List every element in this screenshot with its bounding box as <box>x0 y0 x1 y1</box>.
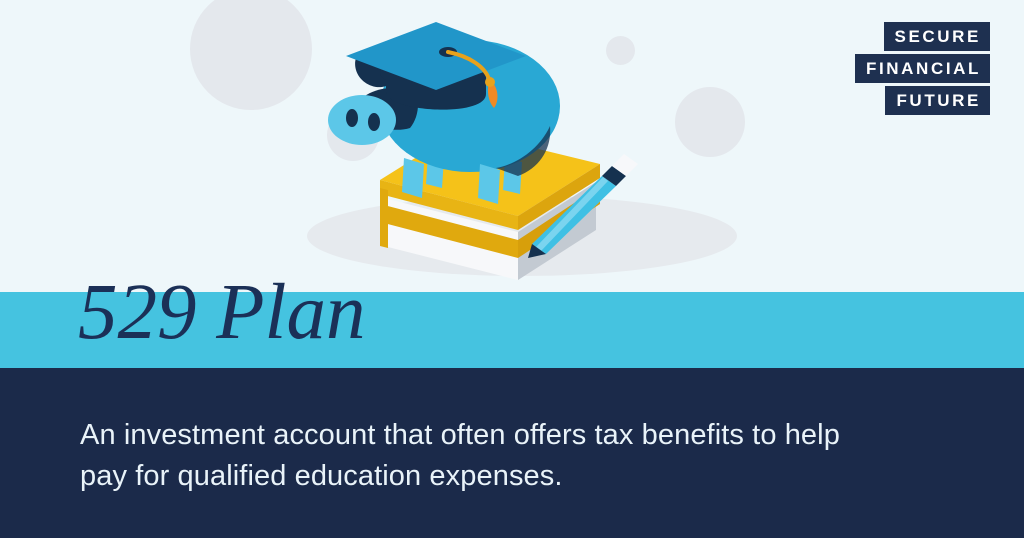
book-spine-icon <box>380 188 388 248</box>
piggy-front-leg-icon <box>402 158 424 198</box>
piggy-hind-leg-front-icon <box>478 164 500 204</box>
piggy-snout-icon <box>328 95 396 145</box>
poster-canvas: SECURE FINANCIAL FUTURE 529 Plan An inve… <box>0 0 1024 538</box>
logo-line-secure: SECURE <box>884 22 990 51</box>
piggy-nostril-left-icon <box>346 109 358 127</box>
page-title: 529 Plan <box>78 272 365 355</box>
tassel-knot-icon <box>485 77 495 87</box>
logo-line-financial: FINANCIAL <box>855 54 990 83</box>
piggy-bank-illustration <box>300 8 760 293</box>
logo-line-future: FUTURE <box>885 86 990 115</box>
poster-description: An investment account that often offers … <box>80 415 890 497</box>
secure-financial-future-logo: SECURE FINANCIAL FUTURE <box>855 22 990 115</box>
piggy-nostril-right-icon <box>368 113 380 131</box>
